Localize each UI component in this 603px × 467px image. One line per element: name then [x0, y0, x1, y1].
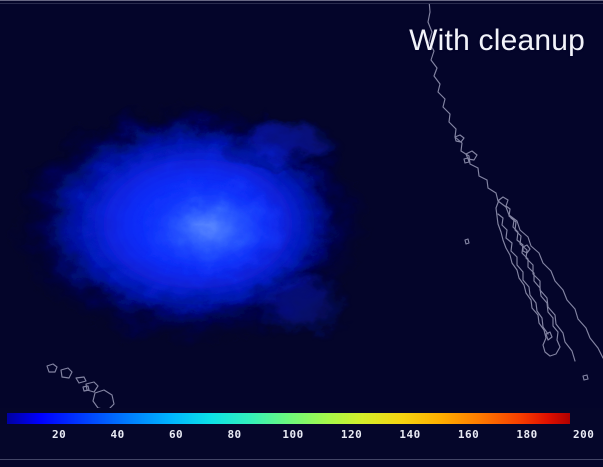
colorbar-tick-140: 140	[399, 428, 420, 442]
figure-canvas: With cleanup 20 40 60 80 100 120 140 160…	[0, 0, 603, 467]
colorbar-tick-180: 180	[516, 428, 537, 442]
colorbar-gradient	[7, 413, 570, 424]
concentration-heatmap	[0, 4, 603, 408]
colorbar[interactable]: 20 40 60 80 100 120 140 160 180 200	[0, 408, 603, 459]
map-panel[interactable]: With cleanup	[0, 4, 603, 408]
panel-title: With cleanup	[409, 26, 585, 56]
colorbar-tick-40: 40	[110, 428, 124, 442]
colorbar-tick-100: 100	[282, 428, 303, 442]
figure-bottom-rule	[0, 459, 603, 460]
colorbar-tick-120: 120	[341, 428, 362, 442]
colorbar-tick-20: 20	[52, 428, 66, 442]
colorbar-tick-200: 200	[573, 428, 594, 442]
figure-top-rule	[0, 0, 603, 1]
colorbar-tick-160: 160	[458, 428, 479, 442]
colorbar-tick-80: 80	[227, 428, 241, 442]
colorbar-tick-60: 60	[169, 428, 183, 442]
colorbar-tick-labels: 20 40 60 80 100 120 140 160 180 200	[0, 428, 603, 448]
